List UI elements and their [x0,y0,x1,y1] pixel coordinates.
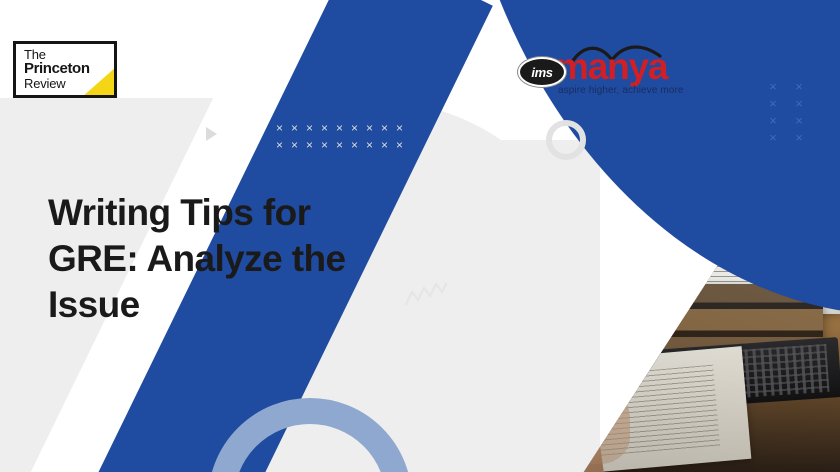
zigzag-squiggle-icon [404,276,448,306]
blue-x-mark: × [786,112,812,129]
manya-brand-text: manya [556,48,667,85]
x-mark: × [377,137,392,154]
blue-x-mark-grid: × × × × × × × × [760,78,812,146]
x-mark: × [347,120,362,137]
play-triangle-icon [206,127,217,141]
ims-badge-text: ims [531,65,552,80]
blue-x-mark: × [786,129,812,146]
princeton-logo-text: The Princeton Review [16,44,114,90]
x-mark: × [332,120,347,137]
x-mark: × [302,137,317,154]
princeton-logo-line-the: The [24,48,114,61]
x-mark: × [317,120,332,137]
ims-badge: ims [518,57,566,87]
blue-x-mark: × [786,78,812,95]
x-mark: × [362,120,377,137]
ims-manya-logo: manya ims aspire higher, achieve more [518,44,678,100]
princeton-logo-line-princeton: Princeton [24,61,114,76]
blue-x-mark: × [760,95,786,112]
x-mark: × [392,120,407,137]
zigzag-svg [404,276,448,306]
x-mark: × [287,137,302,154]
x-mark: × [272,120,287,137]
ring-circle-icon [546,120,586,160]
page-title: Writing Tips for GRE: Analyze the Issue [48,190,398,328]
x-mark: × [347,137,362,154]
manya-tagline: aspire higher, achieve more [558,85,684,96]
x-mark: × [377,120,392,137]
x-mark: × [362,137,377,154]
princeton-logo-line-review: Review [24,77,114,90]
princeton-review-logo: The Princeton Review [13,41,117,98]
banner-root: × × × × × × × × × × × × × × × × × × × × … [0,0,840,472]
x-mark: × [302,120,317,137]
x-mark: × [317,137,332,154]
blue-x-mark: × [760,129,786,146]
x-mark-grid: × × × × × × × × × × × × × × × × × × [272,120,407,154]
x-mark: × [287,120,302,137]
blue-x-mark: × [760,112,786,129]
x-mark: × [392,137,407,154]
blue-x-mark: × [786,95,812,112]
blue-x-mark: × [760,78,786,95]
x-mark: × [272,137,287,154]
x-mark: × [332,137,347,154]
